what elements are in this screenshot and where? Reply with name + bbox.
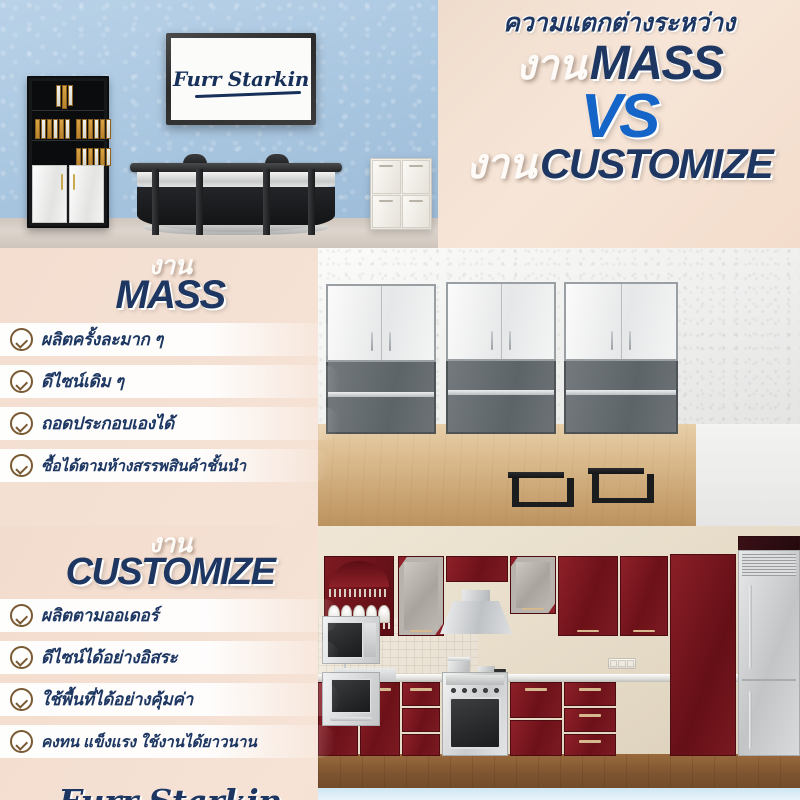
kitchen-drawer-3 — [402, 734, 440, 756]
kitchen-glass-cabinet-1 — [398, 556, 444, 636]
desk-post-2 — [196, 169, 203, 235]
hero-customize-line: งาน CUSTOMIZE — [438, 143, 800, 185]
mass-text-column: งาน MASS ผลิตครั้งละมาก ๆ ดีไซน์เดิม ๆ ถ… — [0, 252, 340, 491]
hero-ngan-2: งาน — [466, 140, 536, 187]
kitchen-wall-outlet — [608, 658, 636, 669]
mass-bench-2 — [560, 394, 692, 470]
bullet-label: ดีไซน์ได้อย่างอิสระ — [41, 644, 177, 671]
check-circle-icon — [10, 604, 33, 627]
bullet-label: ผลิตครั้งละมาก ๆ — [41, 326, 163, 353]
list-item: ดีไซน์ได้อย่างอิสระ — [0, 641, 340, 674]
oven-door — [449, 697, 501, 749]
cabinet-upper-doors — [564, 282, 678, 361]
light-cabinet-door-1 — [372, 160, 401, 194]
drawer-pull — [579, 688, 601, 691]
framed-logo-picture: Furr Starkin — [166, 33, 316, 125]
fridge-handle-upper — [749, 585, 752, 669]
mass-scene-floor-edge — [696, 424, 800, 526]
cabinet-pull — [410, 630, 432, 633]
infographic-page: Furr Starkin — [0, 0, 800, 800]
hero-headline: ความแตกต่างระหว่าง งาน MASS VS งาน CUSTO… — [438, 0, 800, 248]
bullet-label: ดีไซน์เดิม ๆ — [41, 368, 124, 395]
cabinet-shelf-top — [32, 81, 104, 111]
cabinet-door-right — [69, 165, 104, 223]
check-circle-icon — [10, 454, 33, 477]
kitchen-base-cabinet-3 — [510, 682, 562, 718]
desk-kick-plate — [144, 225, 328, 235]
glass-pane — [516, 562, 550, 608]
cabinet-upper-doors — [326, 284, 436, 362]
fridge-vent-grille — [742, 554, 796, 576]
bullet-label: ผลิตตามออเดอร์ — [41, 602, 158, 629]
fridge-door-seam — [742, 679, 796, 681]
check-circle-icon — [10, 646, 33, 669]
list-item: ถอดประกอบเองได้ — [0, 407, 340, 440]
footer-brand-logo: Furr Starkin — [0, 782, 340, 800]
stove-control-knobs — [448, 687, 502, 694]
check-circle-icon — [10, 412, 33, 435]
kitchen-refrigerator — [738, 550, 800, 756]
kitchen-upper-cabinet-4 — [620, 556, 668, 636]
cabinet-door-left — [32, 165, 67, 223]
list-item: ผลิตครั้งละมาก ๆ — [0, 323, 340, 356]
cabinet-shelf-low — [32, 141, 104, 168]
desk-post-1 — [152, 169, 159, 235]
cabinet-shelf-mid — [32, 111, 104, 141]
hero-mass-line: งาน MASS — [438, 40, 800, 88]
fridge-handle-lower — [749, 691, 752, 749]
hero-subtitle: ความแตกต่างระหว่าง — [438, 8, 800, 38]
kitchen-stove-oven — [442, 672, 508, 756]
hero-customize-word: CUSTOMIZE — [540, 140, 772, 187]
list-item: ดีไซน์เดิม ๆ — [0, 365, 340, 398]
check-circle-icon — [10, 328, 33, 351]
mass-section: งาน MASS ผลิตครั้งละมาก ๆ ดีไซน์เดิม ๆ ถ… — [0, 248, 800, 526]
bullet-label: ถอดประกอบเองได้ — [41, 410, 174, 437]
cabinet-pull — [522, 608, 544, 611]
light-cabinet-door-4 — [402, 195, 431, 229]
cabinet-upper-doors — [446, 282, 556, 361]
light-cabinet-door-3 — [372, 195, 401, 229]
kitchen-drawer-6 — [564, 734, 616, 756]
mass-heading-title: MASS — [0, 275, 340, 315]
reception-desk — [130, 163, 342, 241]
bullet-label: ใช้พื้นที่ได้อย่างคุ้มค่า — [41, 686, 193, 713]
bullet-label: คงทน แข็งแรง ใช้งานได้ยาวนาน — [41, 729, 257, 754]
mass-bench-1 — [410, 400, 538, 472]
kitchen-upper-cabinet-3 — [558, 556, 618, 636]
list-item: ผลิตตามออเดอร์ — [0, 599, 340, 632]
microwave-keypad — [364, 623, 376, 657]
drawer-pull — [579, 714, 601, 717]
mass-bullet-list: ผลิตครั้งละมาก ๆ ดีไซน์เดิม ๆ ถอดประกอบเ… — [0, 323, 340, 482]
kitchen-scene-bottom-strip — [318, 788, 800, 800]
cabinet-doors — [32, 165, 104, 223]
cabinet-pull — [525, 688, 547, 691]
footer-brand-text: Furr Starkin — [58, 782, 281, 800]
kitchen-drawer-5 — [564, 708, 616, 732]
list-item: ซื้อได้ตามห้างสรรพสินค้าชั้นนำ — [0, 449, 330, 482]
list-item: ใช้พื้นที่ได้อย่างคุ้มค่า — [0, 683, 340, 716]
customize-bullet-list: ผลิตตามออเดอร์ ดีไซน์ได้อย่างอิสระ ใช้พื… — [0, 599, 340, 758]
desk-post-4 — [308, 169, 315, 235]
kitchen-drawer-1 — [402, 682, 440, 706]
stove-cooktop — [446, 675, 504, 685]
customize-heading-title: CUSTOMIZE — [0, 553, 340, 591]
brand-logo-text: Furr Starkin — [173, 67, 309, 91]
customize-heading: งาน CUSTOMIZE — [0, 530, 340, 591]
mass-black-stool-2 — [588, 468, 644, 498]
mass-product-scene — [318, 248, 800, 526]
drawer-pull — [410, 688, 432, 691]
light-cabinet-door-2 — [402, 160, 431, 194]
mass-heading: งาน MASS — [0, 252, 340, 315]
mass-black-stool-1 — [508, 472, 564, 502]
list-item: คงทน แข็งแรง ใช้งานได้ยาวนาน — [0, 725, 336, 758]
kitchen-range-hood — [440, 590, 512, 634]
kitchen-glass-cabinet-2 — [510, 556, 556, 614]
office-file-cabinet — [27, 76, 109, 228]
customize-text-column: งาน CUSTOMIZE ผลิตตามออเดอร์ ดีไซน์ได้อย… — [0, 530, 340, 767]
kitchen-base-cabinet-4 — [510, 720, 562, 756]
cabinet-shelf — [328, 392, 434, 397]
glass-pane — [404, 562, 438, 630]
custom-kitchen-scene — [318, 526, 800, 800]
kitchen-drawer-2 — [402, 708, 440, 732]
kitchen-drawer-4 — [564, 682, 616, 706]
bullet-label: ซื้อได้ตามห้างสรรพสินค้าชั้นนำ — [41, 453, 246, 478]
light-storage-cabinet — [370, 158, 432, 230]
hero-ngan-1: งาน — [516, 41, 586, 88]
check-circle-icon — [10, 688, 33, 711]
hero-banner: Furr Starkin — [0, 0, 800, 248]
hero-vs: VS — [438, 90, 800, 145]
check-circle-icon — [10, 730, 33, 753]
customize-section: งาน CUSTOMIZE ผลิตตามออเดอร์ ดีไซน์ได้อย… — [0, 526, 800, 800]
kitchen-hood-cabinet — [446, 556, 508, 582]
check-circle-icon — [10, 370, 33, 393]
kitchen-appliance-tower — [670, 554, 736, 756]
cabinet-pull — [633, 630, 655, 633]
drawer-pull — [579, 740, 601, 743]
desk-post-3 — [263, 169, 270, 235]
frame-canvas: Furr Starkin — [171, 38, 311, 120]
cabinet-shelf — [448, 390, 554, 395]
cabinet-pull — [577, 630, 599, 633]
